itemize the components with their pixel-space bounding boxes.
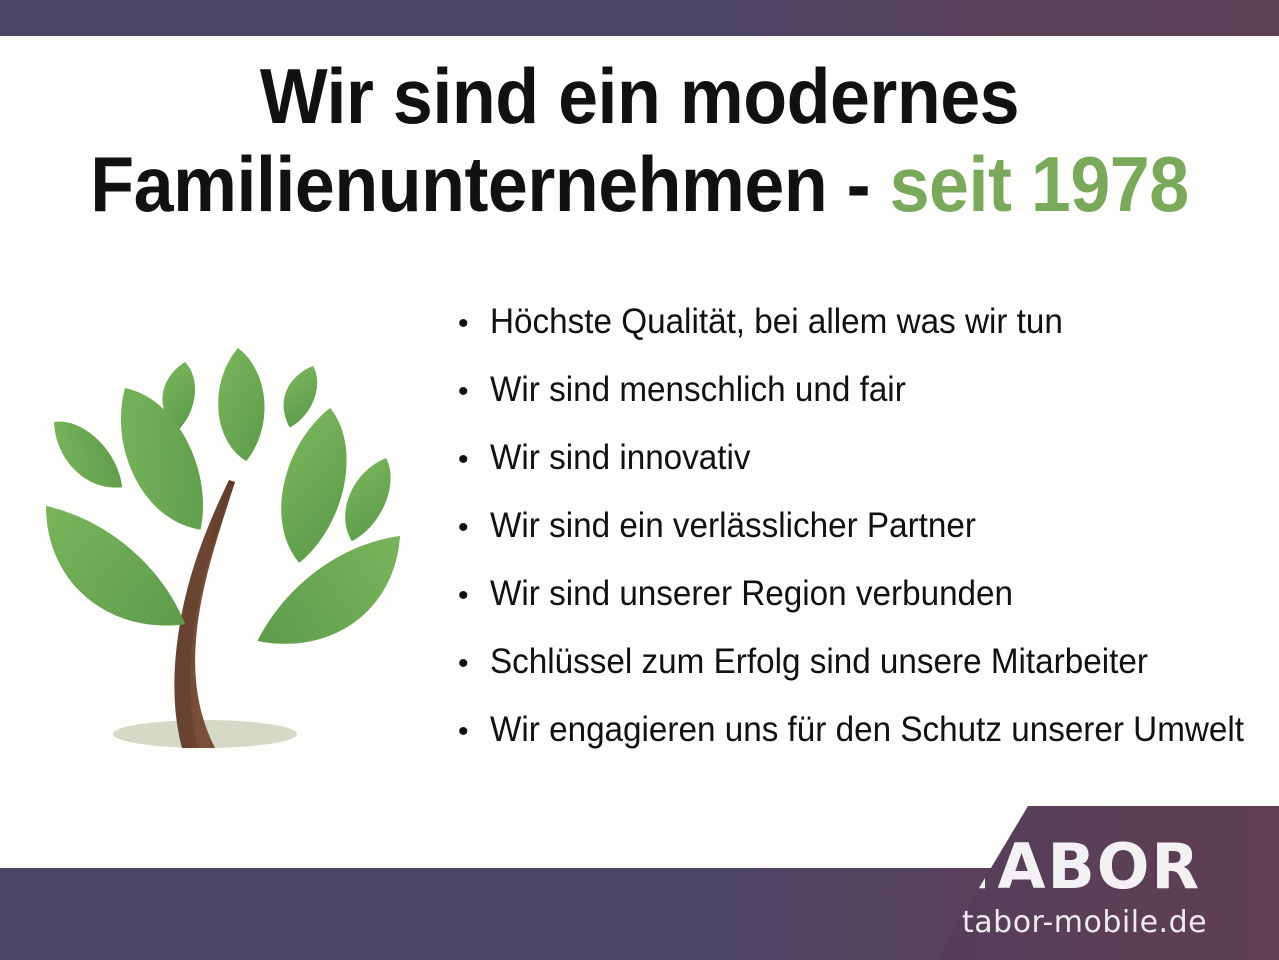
- list-item: • Wir sind ein verlässlicher Partner: [458, 506, 1268, 574]
- list-item-label: Wir sind unserer Region verbunden: [490, 574, 1013, 614]
- list-item-label: Wir engagieren uns für den Schutz unsere…: [490, 710, 1244, 750]
- list-item: • Wir sind unserer Region verbunden: [458, 574, 1268, 642]
- bullet-dot-icon: •: [458, 508, 490, 548]
- tree-svg: [30, 330, 440, 760]
- list-item: • Höchste Qualität, bei allem was wir tu…: [458, 302, 1268, 370]
- bullet-dot-icon: •: [458, 304, 490, 344]
- list-item: • Wir sind innovativ: [458, 438, 1268, 506]
- top-brand-bar: [0, 0, 1279, 36]
- logo-tagline-url: tabor-mobile.de: [962, 906, 1207, 940]
- list-item: • Wir engagieren uns für den Schutz unse…: [458, 710, 1268, 778]
- list-item-label: Schlüssel zum Erfolg sind unsere Mitarbe…: [490, 642, 1148, 682]
- value-bullet-list: • Höchste Qualität, bei allem was wir tu…: [458, 302, 1268, 778]
- headline-line-1: Wir sind ein modernes: [51, 52, 1228, 140]
- page-title: Wir sind ein modernes Familienunternehme…: [0, 52, 1279, 228]
- bullet-dot-icon: •: [458, 644, 490, 684]
- bullet-dot-icon: •: [458, 712, 490, 752]
- bullet-dot-icon: •: [458, 440, 490, 480]
- headline-line-2-plain: Familienunternehmen -: [90, 140, 889, 228]
- tree-logo-illustration: [30, 330, 440, 760]
- list-item-label: Wir sind innovativ: [490, 438, 751, 478]
- headline-accent-since-year: seit 1978: [890, 140, 1189, 228]
- list-item: • Schlüssel zum Erfolg sind unsere Mitar…: [458, 642, 1268, 710]
- bullet-dot-icon: •: [458, 372, 490, 412]
- list-item-label: Höchste Qualität, bei allem was wir tun: [490, 302, 1063, 342]
- headline-line-2: Familienunternehmen - seit 1978: [51, 140, 1228, 228]
- logo-wordmark: TABOR: [958, 834, 1201, 900]
- slide-canvas: Wir sind ein modernes Familienunternehme…: [0, 0, 1279, 960]
- list-item-label: Wir sind menschlich und fair: [490, 370, 906, 410]
- list-item: • Wir sind menschlich und fair: [458, 370, 1268, 438]
- bullet-dot-icon: •: [458, 576, 490, 616]
- list-item-label: Wir sind ein verlässlicher Partner: [490, 506, 976, 546]
